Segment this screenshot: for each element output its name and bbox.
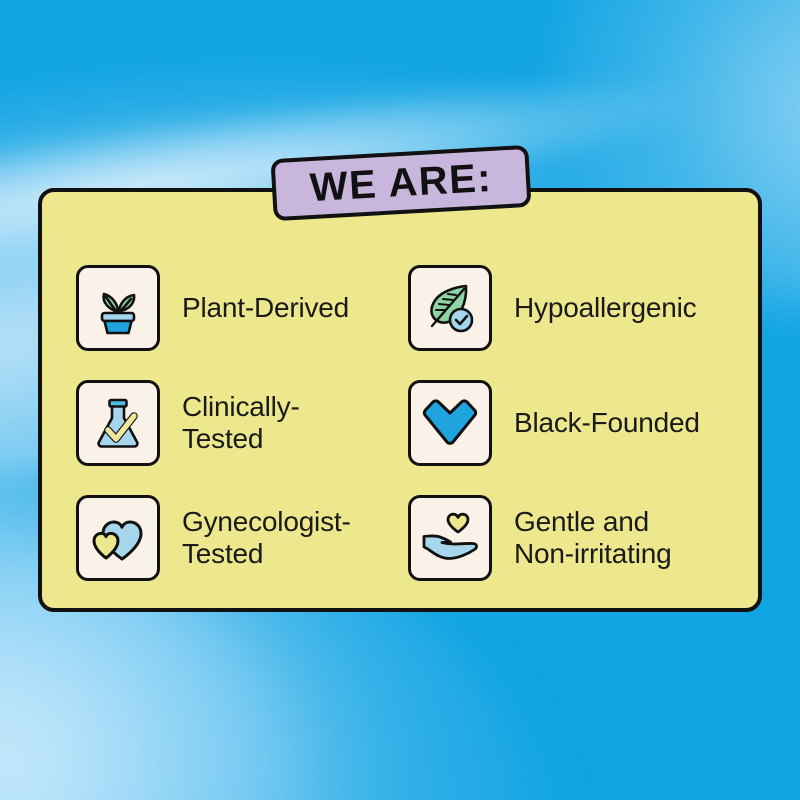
feature-label: Plant-Derived (182, 292, 349, 324)
feature-label: Gentle and Non-irritating (514, 506, 671, 570)
feature-item-plant-derived: Plant-Derived (76, 250, 400, 365)
feature-label: Gynecologist- Tested (182, 506, 351, 570)
feature-icon-tile (408, 495, 492, 581)
features-grid: Plant-Derived (42, 192, 758, 608)
feature-icon-tile (76, 380, 160, 466)
potted-plant-icon (91, 280, 145, 336)
features-card: Plant-Derived (38, 188, 762, 612)
feature-icon-tile (76, 495, 160, 581)
page-title: WE ARE: (309, 158, 493, 208)
feature-icon-tile (76, 265, 160, 351)
double-hearts-icon (88, 513, 148, 563)
blue-heart-icon (421, 397, 479, 449)
feature-label: Hypoallergenic (514, 292, 696, 324)
feature-label: Clinically- Tested (182, 391, 300, 455)
feature-item-hypoallergenic: Hypoallergenic (408, 250, 732, 365)
leaf-check-icon (422, 280, 478, 336)
feature-item-gentle-non-irritating: Gentle and Non-irritating (408, 480, 732, 595)
flask-check-icon (92, 394, 144, 452)
feature-icon-tile (408, 380, 492, 466)
feature-item-clinically-tested: Clinically- Tested (76, 365, 400, 480)
feature-item-gynecologist-tested: Gynecologist- Tested (76, 480, 400, 595)
feature-icon-tile (408, 265, 492, 351)
feature-item-black-founded: Black-Founded (408, 365, 732, 480)
feature-label: Black-Founded (514, 407, 700, 439)
hand-holding-heart-icon (420, 511, 480, 565)
